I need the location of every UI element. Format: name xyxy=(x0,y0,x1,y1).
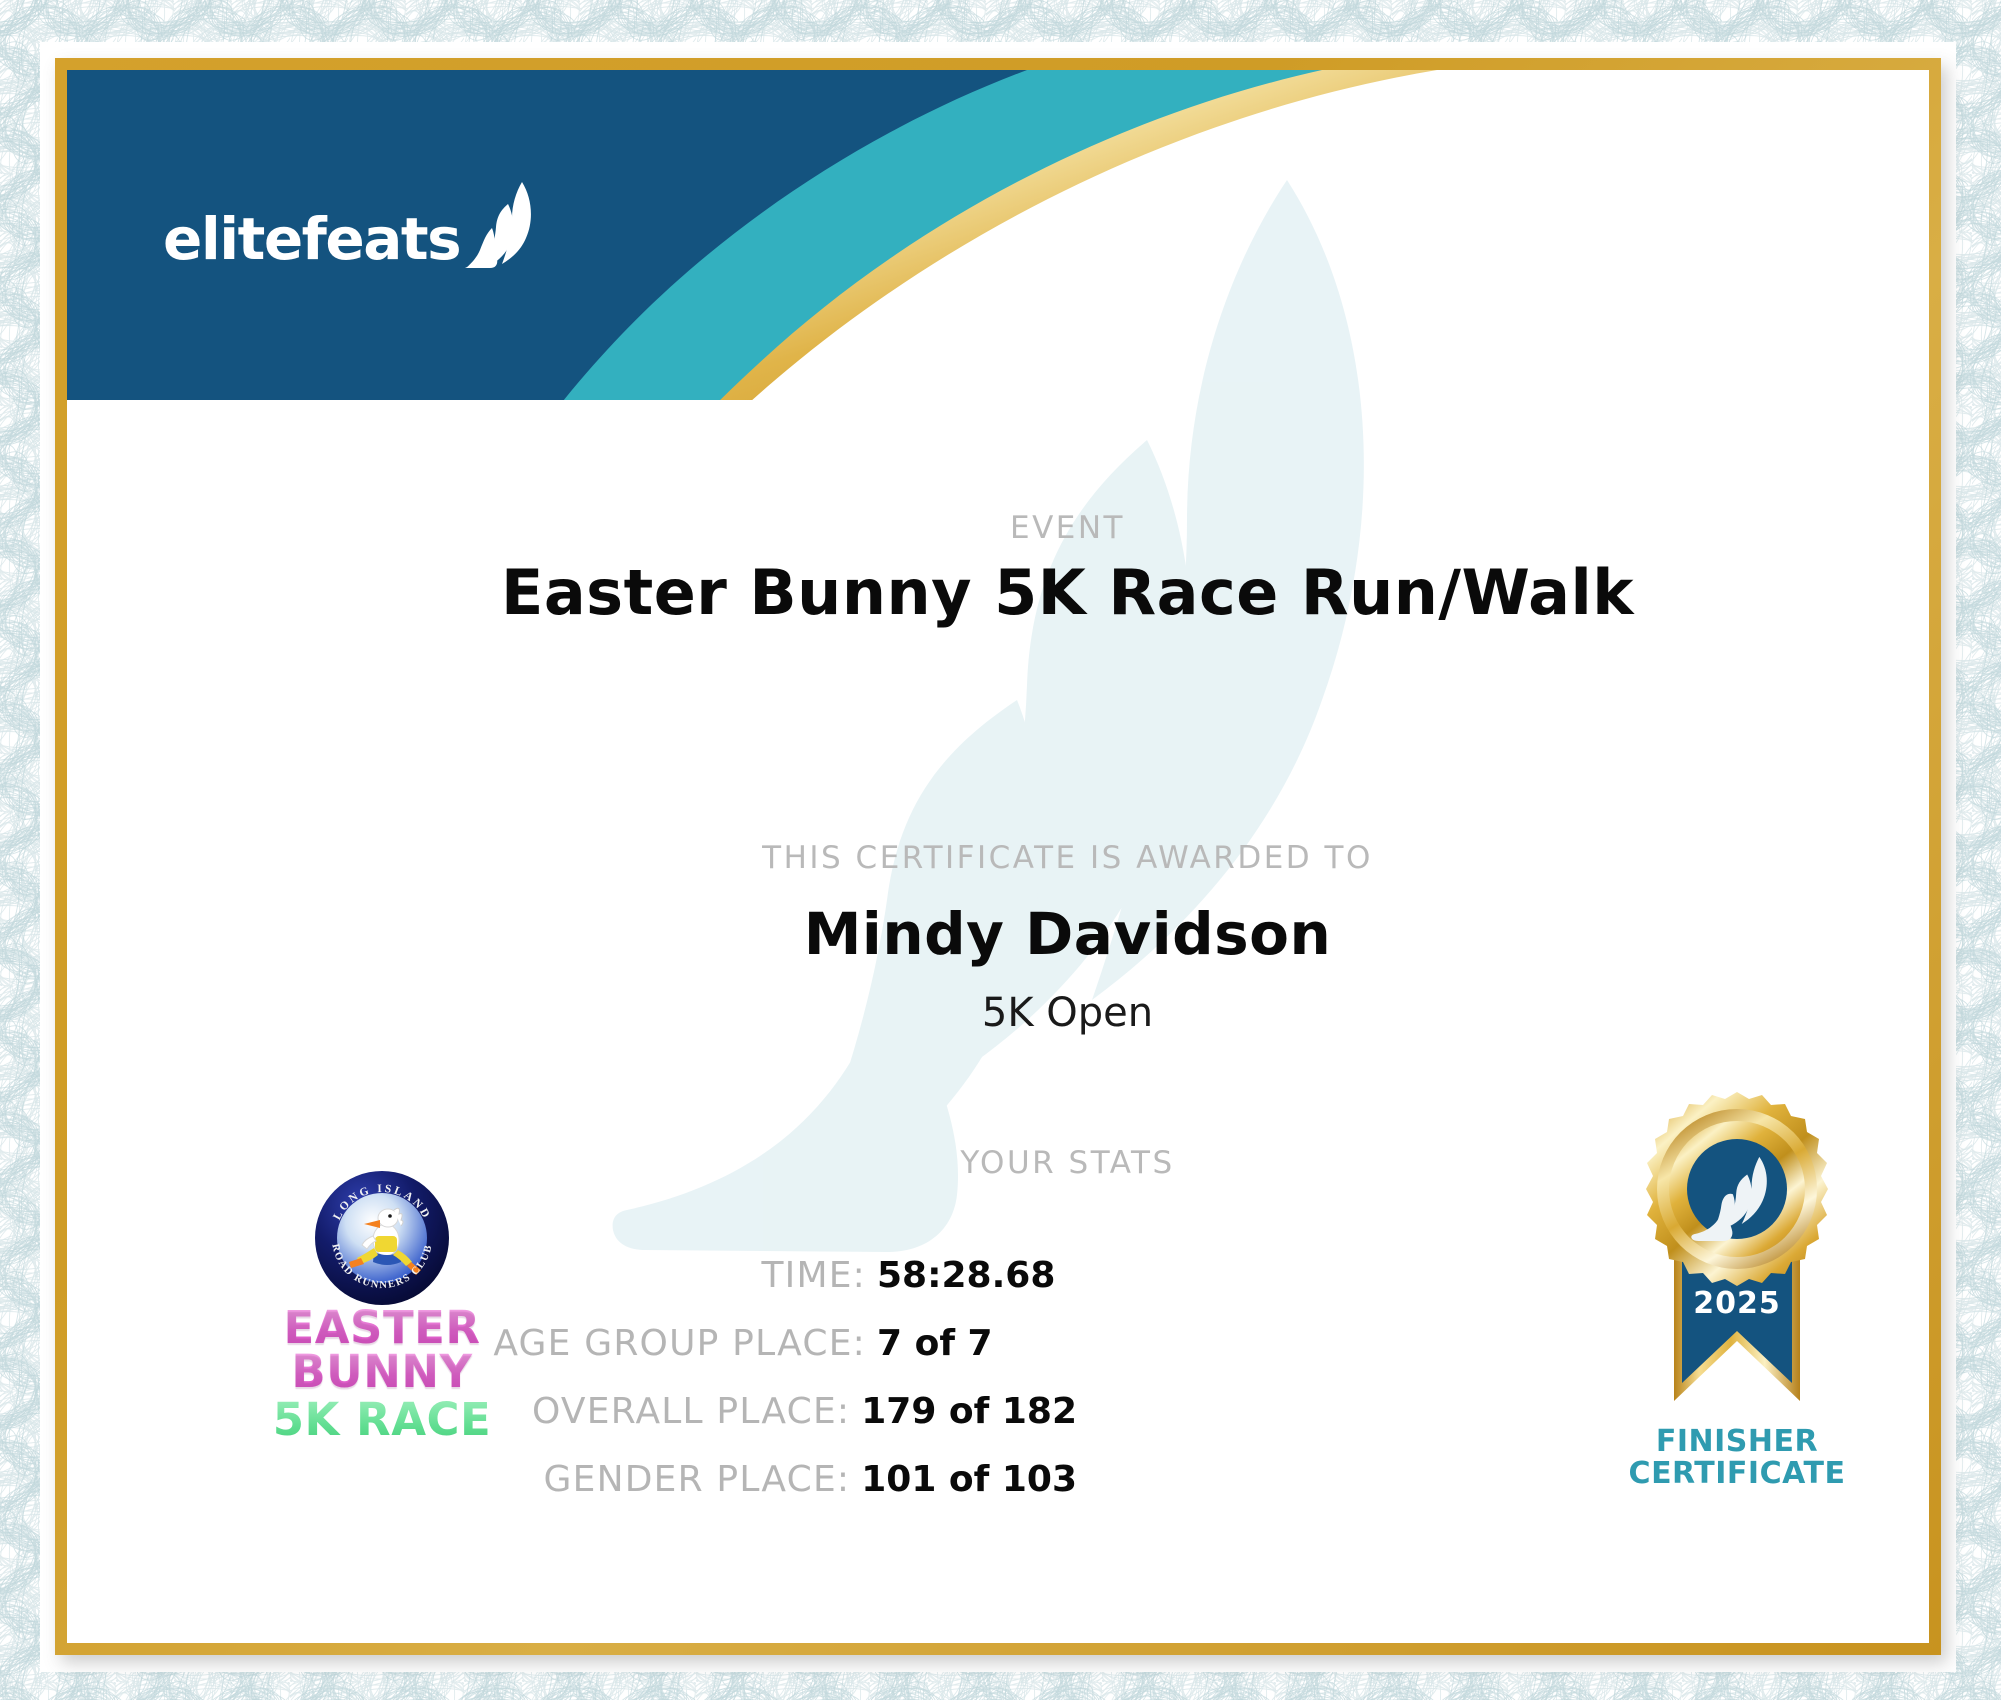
finisher-medal-icon: 2025 xyxy=(1612,1085,1862,1415)
event-name: Easter Bunny 5K Race Run/Walk xyxy=(67,556,1929,629)
recipient-name: Mindy Davidson xyxy=(67,900,1929,968)
stat-value: 179 of 182 xyxy=(861,1391,1077,1432)
race-logo-line-1: EASTER xyxy=(267,1306,497,1350)
stat-label: OVERALL PLACE: xyxy=(532,1391,850,1432)
race-logo-line-3: 5K RACE xyxy=(267,1394,497,1446)
certificate-body: elitefeats EVENT Easter Bunny 5K Race Ru… xyxy=(67,70,1929,1643)
event-label: EVENT xyxy=(67,510,1929,546)
badge-caption-line-1: FINISHER xyxy=(1582,1426,1892,1458)
badge-caption: FINISHER CERTIFICATE xyxy=(1582,1426,1892,1491)
elitefeats-logo: elitefeats xyxy=(163,180,542,268)
stat-label: AGE GROUP PLACE: xyxy=(493,1323,866,1364)
awarded-to-label: THIS CERTIFICATE IS AWARDED TO xyxy=(67,840,1929,876)
stat-value: 7 of 7 xyxy=(877,1323,1077,1364)
long-island-road-runners-club-seal-icon: LONG ISLAND ROAD RUNNERS CLUB xyxy=(314,1170,450,1306)
easter-bunny-race-logo: LONG ISLAND ROAD RUNNERS CLUB EASTER BUN… xyxy=(267,1170,497,1446)
certificate-gold-frame: elitefeats EVENT Easter Bunny 5K Race Ru… xyxy=(55,58,1941,1655)
stat-row-gender-place: GENDER PLACE: 101 of 103 xyxy=(67,1459,1397,1500)
stat-value: 58:28.68 xyxy=(877,1255,1077,1296)
finisher-badge: 2025 xyxy=(1582,1085,1892,1491)
brand-wordmark: elitefeats xyxy=(163,210,460,268)
stat-label: TIME: xyxy=(761,1255,866,1296)
winged-foot-icon xyxy=(464,180,542,268)
stat-label: GENDER PLACE: xyxy=(544,1459,851,1500)
stat-value: 101 of 103 xyxy=(861,1459,1077,1500)
badge-caption-line-2: CERTIFICATE xyxy=(1582,1458,1892,1490)
division-name: 5K Open xyxy=(67,990,1929,1036)
race-logo-line-2: BUNNY xyxy=(267,1350,497,1394)
badge-year: 2025 xyxy=(1693,1286,1781,1321)
